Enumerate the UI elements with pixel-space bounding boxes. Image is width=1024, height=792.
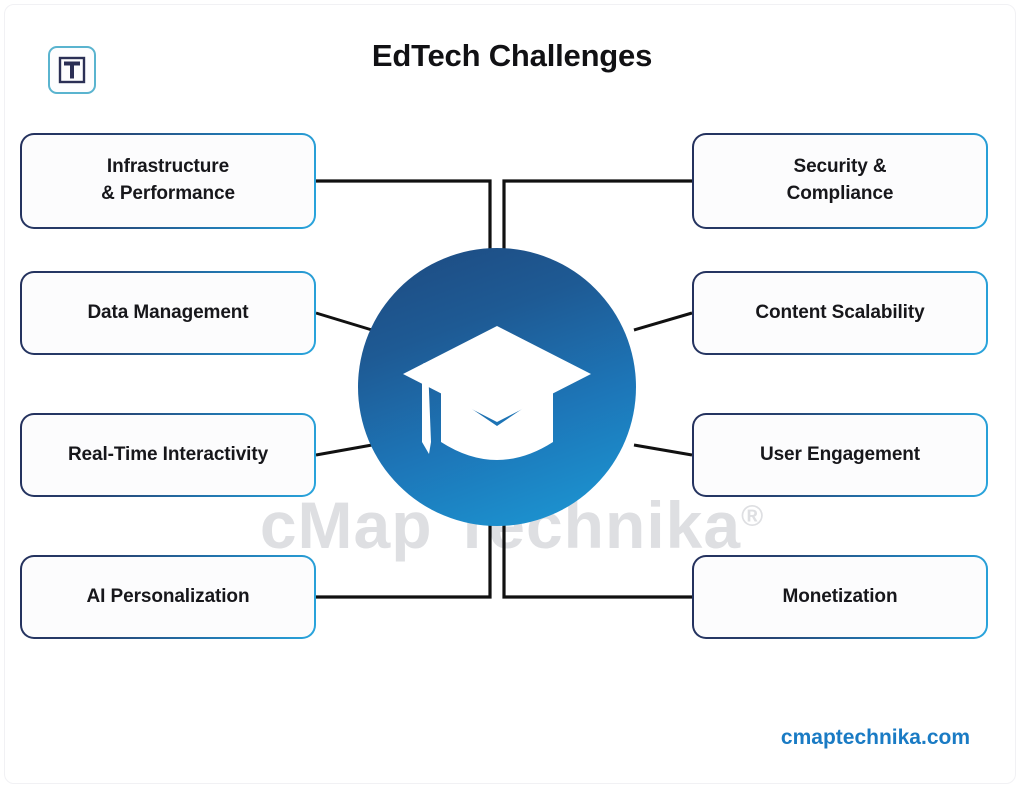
connector-left-3 [316, 445, 372, 455]
graduation-cap-icon [397, 302, 597, 472]
node-label: Real-Time Interactivity [22, 415, 314, 495]
diagram-canvas: EdTech Challenges cMap Technika® [0, 0, 1024, 792]
node-label-line1: Infrastructure [107, 156, 229, 177]
node-label: AI Personalization [22, 557, 314, 637]
node-label-line2: Compliance [787, 183, 894, 204]
node-data-management[interactable]: Data Management [20, 271, 316, 355]
node-ai-personalization[interactable]: AI Personalization [20, 555, 316, 639]
node-content-scalability[interactable]: Content Scalability [692, 271, 988, 355]
site-url-link[interactable]: cmaptechnika.com [781, 726, 970, 750]
node-monetization[interactable]: Monetization [692, 555, 988, 639]
node-label-line2: & Performance [101, 183, 235, 204]
node-label: Data Management [22, 273, 314, 353]
connector-right-3 [634, 445, 692, 455]
node-label: Infrastructure & Performance [22, 135, 314, 227]
node-infrastructure-performance[interactable]: Infrastructure & Performance [20, 133, 316, 229]
node-label-line1: Security & [794, 156, 887, 177]
node-label: Monetization [694, 557, 986, 637]
connector-right-2 [634, 313, 692, 330]
node-real-time-interactivity[interactable]: Real-Time Interactivity [20, 413, 316, 497]
connector-left-2 [316, 313, 372, 330]
node-label: Security & Compliance [694, 135, 986, 227]
node-label: User Engagement [694, 415, 986, 495]
center-graduation-node [358, 248, 636, 526]
node-label: Content Scalability [694, 273, 986, 353]
node-user-engagement[interactable]: User Engagement [692, 413, 988, 497]
node-security-compliance[interactable]: Security & Compliance [692, 133, 988, 229]
